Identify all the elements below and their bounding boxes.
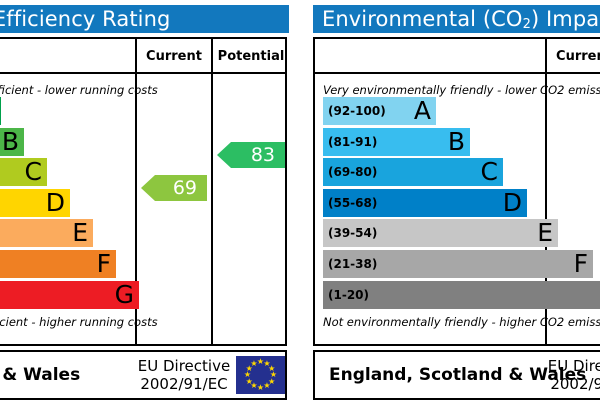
co2-band-letter-f: F bbox=[574, 251, 588, 276]
co2-directive-line-1: EU Directive bbox=[546, 357, 600, 375]
energy-directive-line-2: 2002/91/EC bbox=[136, 375, 232, 393]
co2-title-subscript: 2 bbox=[523, 17, 531, 32]
co2-caption-top: Very environmentally friendly - lower CO… bbox=[323, 83, 600, 97]
co2-caption-bottom: Not environmentally friendly - higher CO… bbox=[323, 315, 600, 329]
energy-band-a: (92 plus)A bbox=[0, 97, 1, 125]
energy-potential-rating-arrow: 83 bbox=[217, 142, 285, 168]
co2-directive-line-2: 2002/91/EC bbox=[546, 375, 600, 393]
co2-footer-directive: EU Directive 2002/91/EC bbox=[546, 357, 600, 393]
co2-chart-body: Current Potential Very environmentally f… bbox=[313, 37, 600, 346]
co2-band-range-g: (1-20) bbox=[328, 288, 369, 302]
energy-caption-bottom: Not energy efficient - higher running co… bbox=[0, 315, 158, 329]
co2-band-range-b: (81-91) bbox=[328, 135, 377, 149]
energy-band-letter-f: F bbox=[97, 251, 111, 276]
co2-band-f: (21-38)F bbox=[323, 250, 593, 278]
energy-efficiency-rating-panel: Energy Efficiency Rating Current Potenti… bbox=[0, 0, 289, 404]
co2-band-a: (92-100)A bbox=[323, 97, 436, 125]
energy-current-rating-arrow: 69 bbox=[141, 175, 207, 201]
energy-potential-column-label: Potential bbox=[213, 39, 289, 74]
energy-footer-region: England & Wales bbox=[0, 352, 80, 398]
energy-band-letter-g: G bbox=[115, 282, 134, 307]
energy-footer-directive: EU Directive 2002/91/EC bbox=[136, 357, 232, 393]
energy-band-letter-d: D bbox=[46, 190, 65, 215]
co2-panel-title: Environmental (CO2) Impact bbox=[313, 5, 600, 33]
co2-title-suffix: ) Impact bbox=[531, 7, 600, 31]
energy-directive-line-1: EU Directive bbox=[136, 357, 232, 375]
energy-panel-title: Energy Efficiency Rating bbox=[0, 5, 289, 33]
co2-band-d: (55-68)D bbox=[323, 189, 527, 217]
energy-band-letter-c: C bbox=[25, 159, 42, 184]
energy-chart-body: Current Potential Very energy efficient … bbox=[0, 37, 287, 346]
energy-band-e: (39-54)E bbox=[0, 219, 93, 247]
energy-band-c: (69-80)C bbox=[0, 158, 47, 186]
co2-band-letter-b: B bbox=[448, 129, 465, 154]
co2-band-letter-c: C bbox=[481, 159, 498, 184]
co2-title-prefix: Environmental (CO bbox=[322, 7, 523, 31]
energy-band-g: (1-20)G bbox=[0, 281, 139, 309]
co2-band-c: (69-80)C bbox=[323, 158, 503, 186]
energy-column-divider-2 bbox=[211, 39, 213, 346]
co2-band-letter-a: A bbox=[414, 98, 431, 123]
eu-flag-star: ★ bbox=[250, 360, 258, 368]
energy-band-letter-e: E bbox=[72, 220, 88, 245]
co2-footer: England, Scotland & Wales EU Directive 2… bbox=[313, 350, 600, 400]
co2-band-letter-d: D bbox=[503, 190, 522, 215]
energy-band-f: (21-38)F bbox=[0, 250, 116, 278]
environmental-co2-impact-panel: Environmental (CO2) Impact Current Poten… bbox=[313, 0, 600, 404]
co2-band-range-f: (21-38) bbox=[328, 257, 377, 271]
co2-band-g: (1-20)G bbox=[323, 281, 600, 309]
co2-band-letter-e: E bbox=[537, 220, 553, 245]
co2-band-range-d: (55-68) bbox=[328, 196, 377, 210]
eu-flag-icon: ★★★★★★★★★★★★ bbox=[236, 356, 285, 394]
energy-caption-top: Very energy efficient - lower running co… bbox=[0, 83, 158, 97]
energy-band-letter-b: B bbox=[2, 129, 19, 154]
energy-current-column-label: Current bbox=[137, 39, 211, 74]
co2-band-range-c: (69-80) bbox=[328, 165, 377, 179]
energy-band-scale: (92 plus)A(81-91)B(69-80)C(55-68)D(39-54… bbox=[0, 97, 133, 312]
energy-band-b: (81-91)B bbox=[0, 128, 24, 156]
co2-current-column-label: Current bbox=[547, 39, 600, 74]
co2-band-b: (81-91)B bbox=[323, 128, 470, 156]
co2-band-scale: (92-100)A(81-91)B(69-80)C(55-68)D(39-54)… bbox=[315, 97, 543, 312]
energy-footer: England & Wales EU Directive 2002/91/EC … bbox=[0, 350, 287, 400]
co2-band-range-a: (92-100) bbox=[328, 104, 386, 118]
co2-band-e: (39-54)E bbox=[323, 219, 558, 247]
energy-band-d: (55-68)D bbox=[0, 189, 70, 217]
co2-band-range-e: (39-54) bbox=[328, 226, 377, 240]
